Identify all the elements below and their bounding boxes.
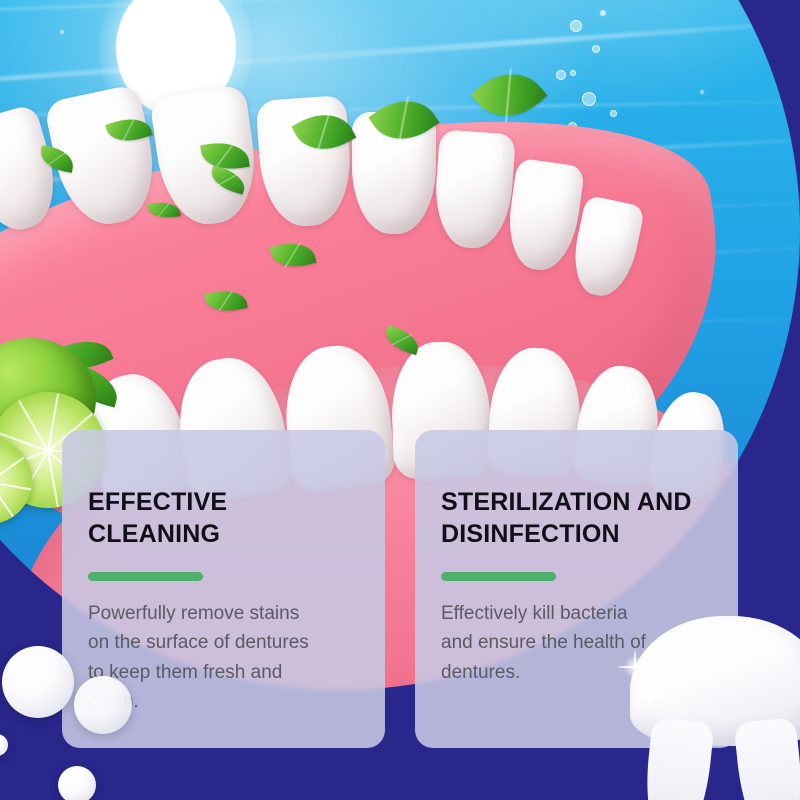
poster-canvas: EFFECTIVE CLEANING Powerfully remove sta…	[0, 0, 800, 800]
accent-bar	[441, 572, 556, 581]
decorative-bubble	[0, 734, 8, 756]
decorative-bubble	[2, 646, 74, 718]
decorative-bubble	[58, 766, 96, 800]
card-title: EFFECTIVE CLEANING	[88, 486, 359, 550]
card-title: STERILIZATION AND DISINFECTION	[441, 486, 712, 550]
molar-tooth	[624, 616, 800, 800]
water-sparkle	[60, 30, 64, 34]
decorative-bubble	[74, 676, 132, 734]
molar-root	[733, 717, 800, 800]
water-sparkle	[600, 10, 606, 16]
sparkle-icon	[618, 650, 652, 684]
sparkle-icon	[640, 688, 658, 706]
water-sparkle	[700, 90, 704, 94]
accent-bar	[88, 572, 203, 581]
